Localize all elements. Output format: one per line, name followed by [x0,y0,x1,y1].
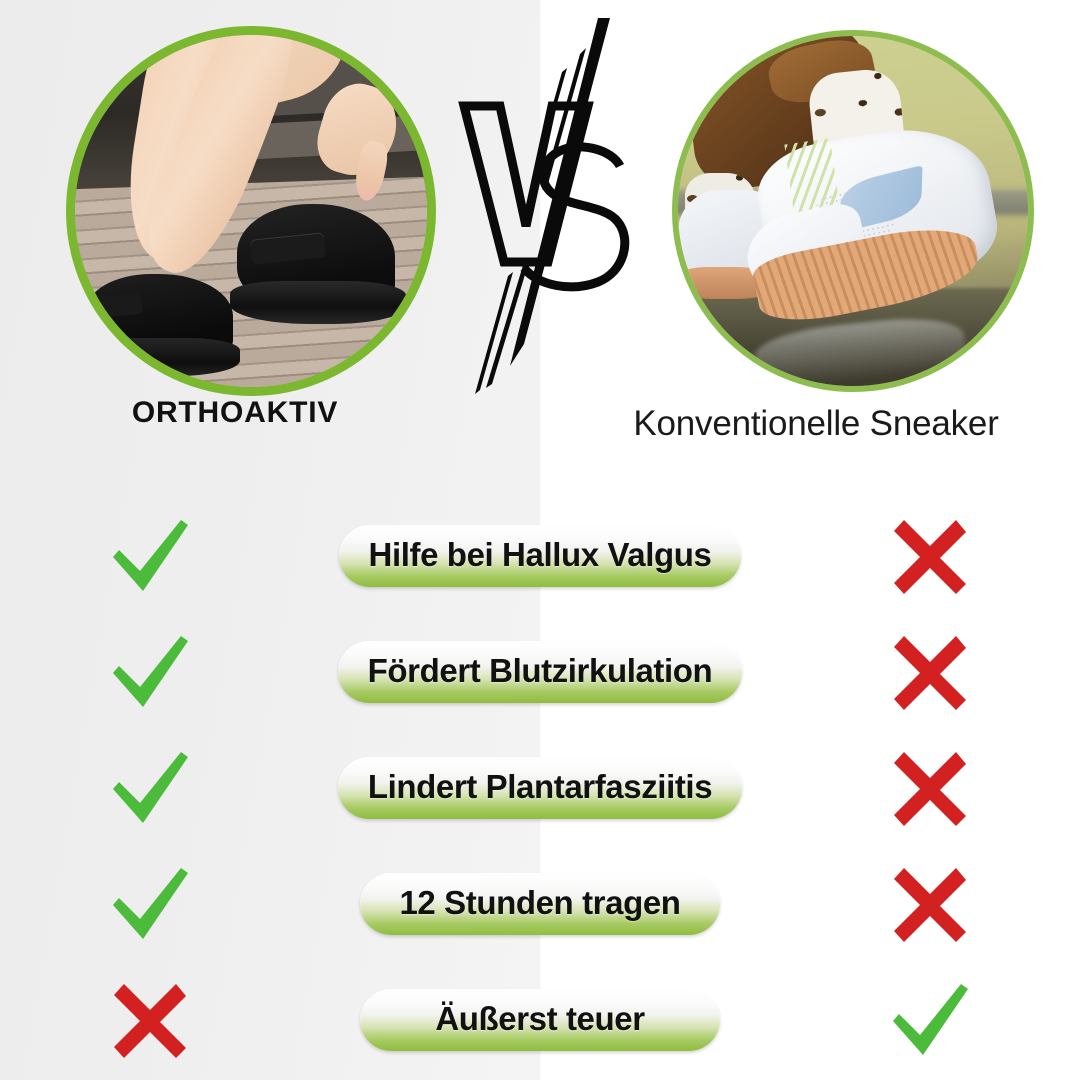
check-icon [107,747,193,829]
caption-conventional-sneaker: Konventionelle Sneaker [556,404,1076,444]
orthoaktiv-mark-cell [0,980,300,1060]
feature-pill: 12 Stunden tragen [360,873,720,935]
comparison-row: Hilfe bei Hallux Valgus [0,498,1080,614]
cross-icon [110,980,190,1060]
comparison-row: Fördert Blutzirkulation [0,614,1080,730]
cross-icon [890,864,970,944]
feature-label-cell: Lindert Plantarfasziitis [300,757,780,819]
orthoaktiv-mark-cell [0,863,300,945]
comparison-row: Äußerst teuer [0,962,1080,1078]
feature-label-cell: Äußerst teuer [300,989,780,1051]
comparison-rows: Hilfe bei Hallux Valgus Fördert Blutzirk… [0,498,1080,1078]
photo-shoe-left-sole [79,338,241,377]
caption-orthoaktiv: ORTHOAKTIV [0,396,470,430]
orthoaktiv-mark-cell [0,515,300,597]
conventional-mark-cell [780,748,1080,828]
cross-icon [890,516,970,596]
product-photo-conventional [672,30,1034,392]
orthoaktiv-photo [75,35,427,387]
check-icon [887,979,973,1061]
conventional-sneaker-photo [678,36,1028,386]
photo-shoe-left-strap [88,294,142,319]
hero-section: ORTHOAKTIV Konventionelle Sneaker [0,0,1080,460]
orthoaktiv-mark-cell [0,747,300,829]
photo-shoe-right-sole [230,281,406,323]
comparison-row: Lindert Plantarfasziitis [0,730,1080,846]
check-icon [107,631,193,713]
feature-pill: Äußerst teuer [360,989,720,1051]
feature-label-cell: Fördert Blutzirkulation [300,641,780,703]
check-icon [107,863,193,945]
versus-badge-icon [452,14,648,404]
feature-pill: Fördert Blutzirkulation [338,641,743,703]
feature-label-cell: 12 Stunden tragen [300,873,780,935]
conventional-mark-cell [780,516,1080,596]
conventional-mark-cell [780,979,1080,1061]
comparison-row: 12 Stunden tragen [0,846,1080,962]
feature-pill: Hilfe bei Hallux Valgus [339,525,742,587]
comparison-infographic: ORTHOAKTIV Konventionelle Sneaker Hilfe … [0,0,1080,1080]
feature-label-cell: Hilfe bei Hallux Valgus [300,525,780,587]
conventional-mark-cell [780,864,1080,944]
check-icon [107,515,193,597]
cross-icon [890,748,970,828]
conventional-mark-cell [780,632,1080,712]
feature-pill: Lindert Plantarfasziitis [338,757,742,819]
orthoaktiv-mark-cell [0,631,300,713]
cross-icon [890,632,970,712]
product-photo-orthoaktiv [66,26,436,396]
